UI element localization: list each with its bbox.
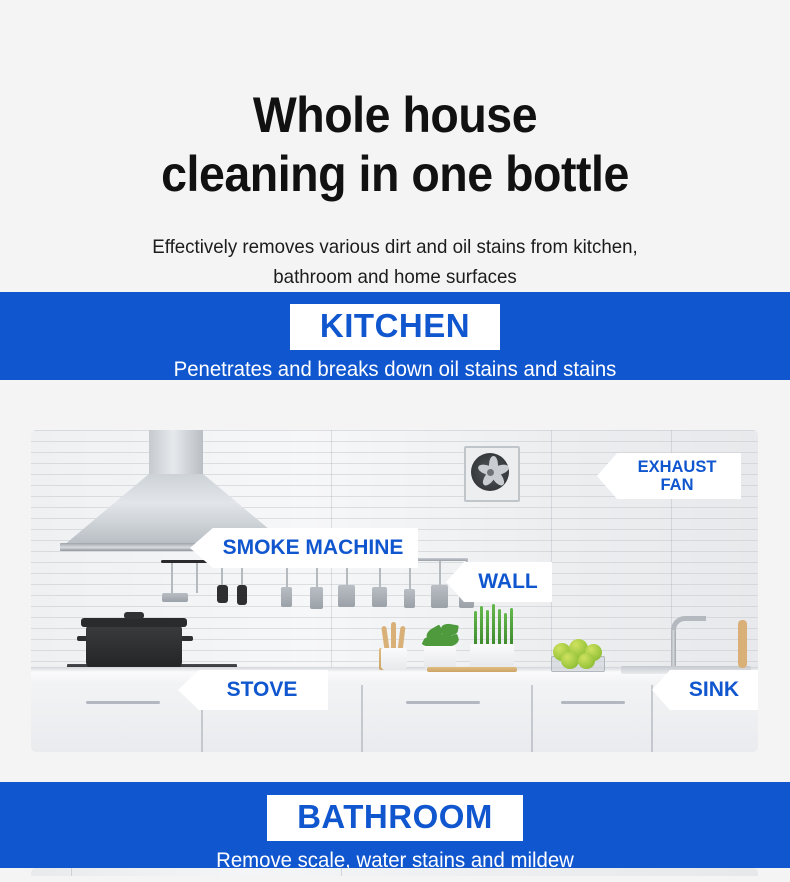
exhaust-fan-disc [471,453,509,491]
grass-blade [504,613,507,645]
apple [561,652,579,669]
hanging-utensil [162,593,188,602]
cabinet-handle [86,701,160,704]
callout-label-text: SINK [689,678,739,702]
callout-label-text: STOVE [227,678,298,702]
callout-smoke-machine[interactable]: SMOKE MACHINE [190,528,418,568]
fan-hub [487,469,494,476]
hanging-utensil [404,589,415,608]
section-title-kitchen: KITCHEN [290,304,500,350]
cooking-pot [86,626,182,668]
callout-label-text: WALL [478,570,537,594]
grass-blade [498,609,501,645]
grass-blade [510,608,513,645]
hanging-utensil [431,585,448,608]
headline-line-2: cleaning in one bottle [28,145,763,204]
hanging-utensil [338,585,355,607]
faucet-spout [671,616,706,643]
section-subtitle-kitchen: Penetrates and breaks down oil stains an… [12,350,778,391]
bathroom-seam [71,868,72,876]
cabinet-divider [361,685,363,752]
pot-knob [124,612,144,619]
page-header: Whole house cleaning in one bottle Effec… [0,0,790,292]
wooden-board-right [738,620,747,668]
page-title: Whole house cleaning in one bottle [28,86,763,204]
grass-blade [474,611,477,645]
callout-stove[interactable]: STOVE [178,670,328,710]
wooden-board [427,667,517,672]
pot-lid [81,618,187,627]
callout-wall[interactable]: WALL [446,562,552,602]
range-hood-duct [149,430,203,476]
cabinet-divider [651,685,653,752]
hanging-utensil [281,587,292,607]
callout-sink[interactable]: SINK [652,670,758,710]
utensil-crock [381,648,407,670]
hanging-utensil [372,587,387,607]
cabinet-handle [561,701,625,704]
grass-blade [492,604,495,645]
hanging-utensil [310,587,323,609]
cabinet-divider [531,685,533,752]
hanging-utensil [217,585,228,603]
hanging-utensil [237,585,247,605]
apple [578,653,595,669]
callout-exhaust-fan[interactable]: EXHAUST FAN [597,453,741,499]
grass-blade [486,610,489,645]
subtitle-line-2: bathroom and home surfaces [78,262,712,292]
bathroom-photo [31,868,758,876]
callout-label-text-line-2: FAN [638,476,717,494]
exhaust-fan-icon [464,446,520,502]
wall-seam [551,430,552,670]
base-cabinets [31,685,758,752]
callout-label-text-line-1: EXHAUST [638,458,717,476]
cabinet-handle [406,701,480,704]
utensil-hook [171,563,173,593]
section-banner-bathroom: BATHROOM Remove scale, water stains and … [0,782,790,868]
pot-handle [181,636,193,641]
section-banner-kitchen: KITCHEN Penetrates and breaks down oil s… [0,292,790,380]
section-title-bathroom: BATHROOM [267,795,523,841]
subtitle-line-1: Effectively removes various dirt and oil… [78,232,712,262]
page-subtitle: Effectively removes various dirt and oil… [78,232,712,292]
callout-label-text: SMOKE MACHINE [223,536,404,560]
utensil-hook [439,561,441,587]
headline-line-1: Whole house [253,87,537,143]
utensil-hook [196,563,198,593]
grass-blade [480,606,483,645]
bathroom-seam [341,868,342,876]
